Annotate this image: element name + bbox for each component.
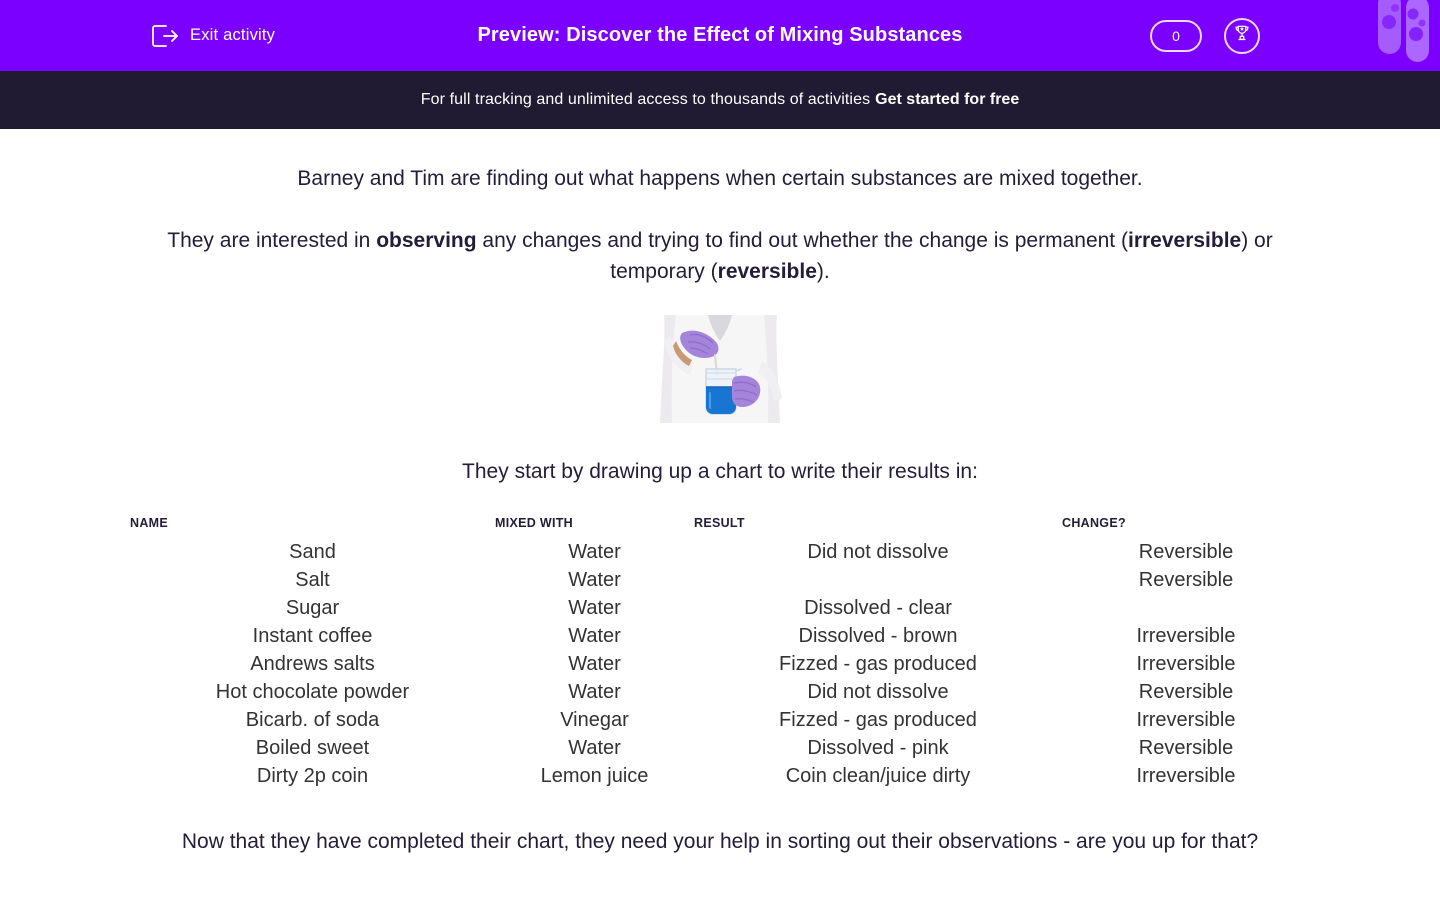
cell-change: Irreversible [1062,706,1310,734]
cell-result: Did not dissolve [694,538,1062,566]
intro-p2-bold-reversible: reversible [718,260,817,283]
table-row: Bicarb. of soda Vinegar Fizzed - gas pro… [130,706,1310,734]
intro-p2-bold-irreversible: irreversible [1128,229,1241,252]
table-row: Hot chocolate powder Water Did not disso… [130,678,1310,706]
intro-p2-bold-observing: observing [376,229,476,252]
cell-result: Fizzed - gas produced [694,650,1062,678]
intro-p2-text-2: any changes and trying to find out wheth… [477,229,1128,252]
cell-name: Bicarb. of soda [130,706,495,734]
cell-result [694,566,1062,594]
cell-name: Salt [130,566,495,594]
cell-name: Hot chocolate powder [130,678,495,706]
intro-paragraph-1: Barney and Tim are finding out what happ… [165,163,1275,194]
cell-mixed: Water [495,622,694,650]
table-row: Dirty 2p coin Lemon juice Coin clean/jui… [130,762,1310,790]
cell-change: Irreversible [1062,762,1310,790]
table-row: Instant coffee Water Dissolved - brown I… [130,622,1310,650]
table-header-row: NAME MIXED WITH RESULT CHANGE? [130,516,1310,538]
trophy-button[interactable] [1224,18,1260,54]
cell-change: Reversible [1062,566,1310,594]
score-badge[interactable]: 0 [1150,20,1202,52]
cell-mixed: Water [495,650,694,678]
results-table: NAME MIXED WITH RESULT CHANGE? Sand Wate… [130,516,1310,790]
cell-name: Boiled sweet [130,734,495,762]
cell-change: Reversible [1062,734,1310,762]
cell-result: Did not dissolve [694,678,1062,706]
header-actions: 0 [1150,0,1260,71]
cell-result: Dissolved - clear [694,594,1062,622]
results-table-wrapper: NAME MIXED WITH RESULT CHANGE? Sand Wate… [0,516,1440,790]
test-tubes-icon [1360,0,1440,71]
column-header-name: NAME [130,516,495,538]
results-table-body: Sand Water Did not dissolve Reversible S… [130,538,1310,790]
get-started-link[interactable]: Get started for free [875,91,1019,109]
table-row: Salt Water Reversible [130,566,1310,594]
cell-change: Reversible [1062,678,1310,706]
closing-paragraph: Now that they have completed their chart… [153,826,1288,857]
cell-result: Fizzed - gas produced [694,706,1062,734]
cell-mixed: Vinegar [495,706,694,734]
cell-result: Coin clean/juice dirty [694,762,1062,790]
chart-intro-text: They start by drawing up a chart to writ… [0,460,1440,484]
trophy-icon [1232,23,1252,48]
cell-mixed: Water [495,566,694,594]
scientist-beaker-image [646,315,794,423]
column-header-mixed-with: MIXED WITH [495,516,694,538]
activity-content: Barney and Tim are finding out what happ… [0,129,1440,857]
cell-result: Dissolved - pink [694,734,1062,762]
cell-change: Irreversible [1062,650,1310,678]
cell-mixed: Water [495,734,694,762]
cell-mixed: Water [495,538,694,566]
column-header-change: CHANGE? [1062,516,1310,538]
cell-mixed: Water [495,678,694,706]
cell-mixed: Lemon juice [495,762,694,790]
intro-p2-text-4: ). [817,260,830,283]
cell-change: Reversible [1062,538,1310,566]
app-header: Exit activity Preview: Discover the Effe… [0,0,1440,71]
cell-mixed: Water [495,594,694,622]
table-row: Sugar Water Dissolved - clear [130,594,1310,622]
cell-name: Sand [130,538,495,566]
table-row: Boiled sweet Water Dissolved - pink Reve… [130,734,1310,762]
cell-name: Instant coffee [130,622,495,650]
cell-name: Andrews salts [130,650,495,678]
promo-text: For full tracking and unlimited access t… [421,91,870,109]
table-row: Andrews salts Water Fizzed - gas produce… [130,650,1310,678]
column-header-result: RESULT [694,516,1062,538]
promo-banner: For full tracking and unlimited access t… [0,71,1440,129]
intro-paragraph-2: They are interested in observing any cha… [165,225,1275,287]
cell-result: Dissolved - brown [694,622,1062,650]
cell-change [1062,594,1310,622]
cell-name: Sugar [130,594,495,622]
cell-change: Irreversible [1062,622,1310,650]
intro-p2-text-1: They are interested in [167,229,376,252]
table-row: Sand Water Did not dissolve Reversible [130,538,1310,566]
cell-name: Dirty 2p coin [130,762,495,790]
